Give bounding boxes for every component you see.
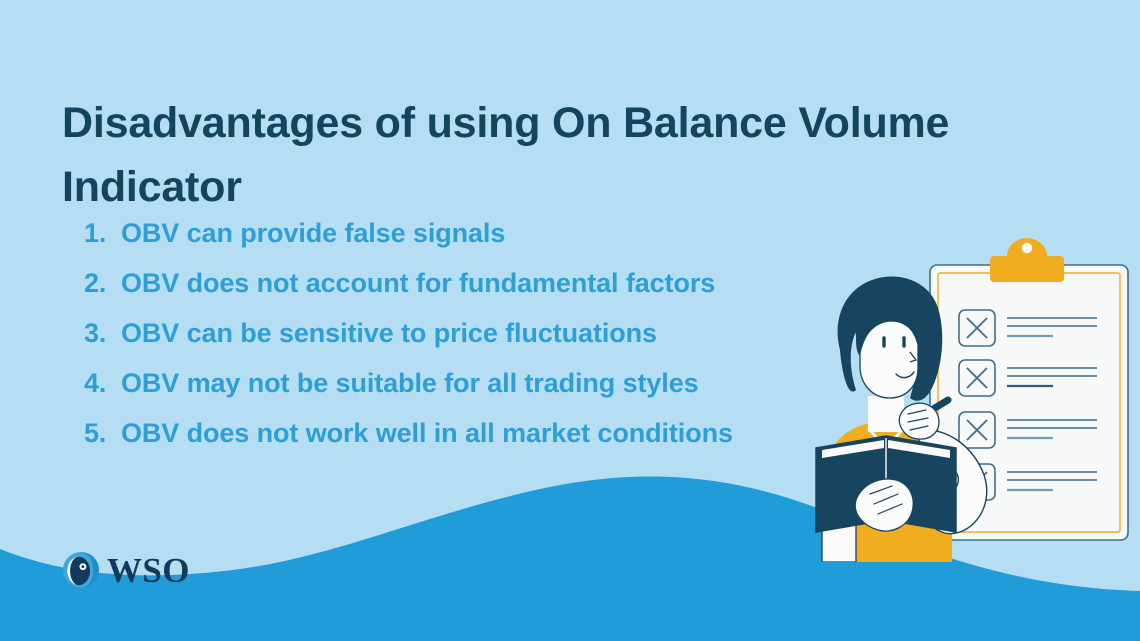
list-item-number: 1. xyxy=(84,218,121,249)
list-item: 4. OBV may not be suitable for all tradi… xyxy=(84,368,904,418)
list-item-number: 4. xyxy=(84,368,121,399)
brand-logo: WSO xyxy=(62,551,190,589)
disadvantages-list: 1. OBV can provide false signals 2. OBV … xyxy=(84,218,904,468)
list-item: 1. OBV can provide false signals xyxy=(84,218,904,268)
hand-right xyxy=(899,403,939,439)
page-title: Disadvantages of using On Balance Volume… xyxy=(62,91,1022,220)
illustration-woman-with-clipboard xyxy=(800,232,1140,562)
wso-globe-icon xyxy=(62,551,100,589)
slide-canvas: Disadvantages of using On Balance Volume… xyxy=(0,0,1140,641)
clipboard-clip-hole xyxy=(1021,242,1034,255)
list-item-label: OBV does not work well in all market con… xyxy=(121,418,733,449)
list-item-number: 5. xyxy=(84,418,121,449)
list-item-label: OBV does not account for fundamental fac… xyxy=(121,268,715,299)
clipboard-clip xyxy=(990,256,1064,282)
list-item-label: OBV can provide false signals xyxy=(121,218,505,249)
logo-wordmark: WSO xyxy=(107,553,190,588)
list-item-number: 2. xyxy=(84,268,121,299)
neck xyxy=(868,396,904,432)
list-item-number: 3. xyxy=(84,318,121,349)
list-item: 3. OBV can be sensitive to price fluctua… xyxy=(84,318,904,368)
list-item: 5. OBV does not work well in all market … xyxy=(84,418,904,468)
list-item-label: OBV may not be suitable for all trading … xyxy=(121,368,699,399)
list-item: 2. OBV does not account for fundamental … xyxy=(84,268,904,318)
list-item-label: OBV can be sensitive to price fluctuatio… xyxy=(121,318,657,349)
